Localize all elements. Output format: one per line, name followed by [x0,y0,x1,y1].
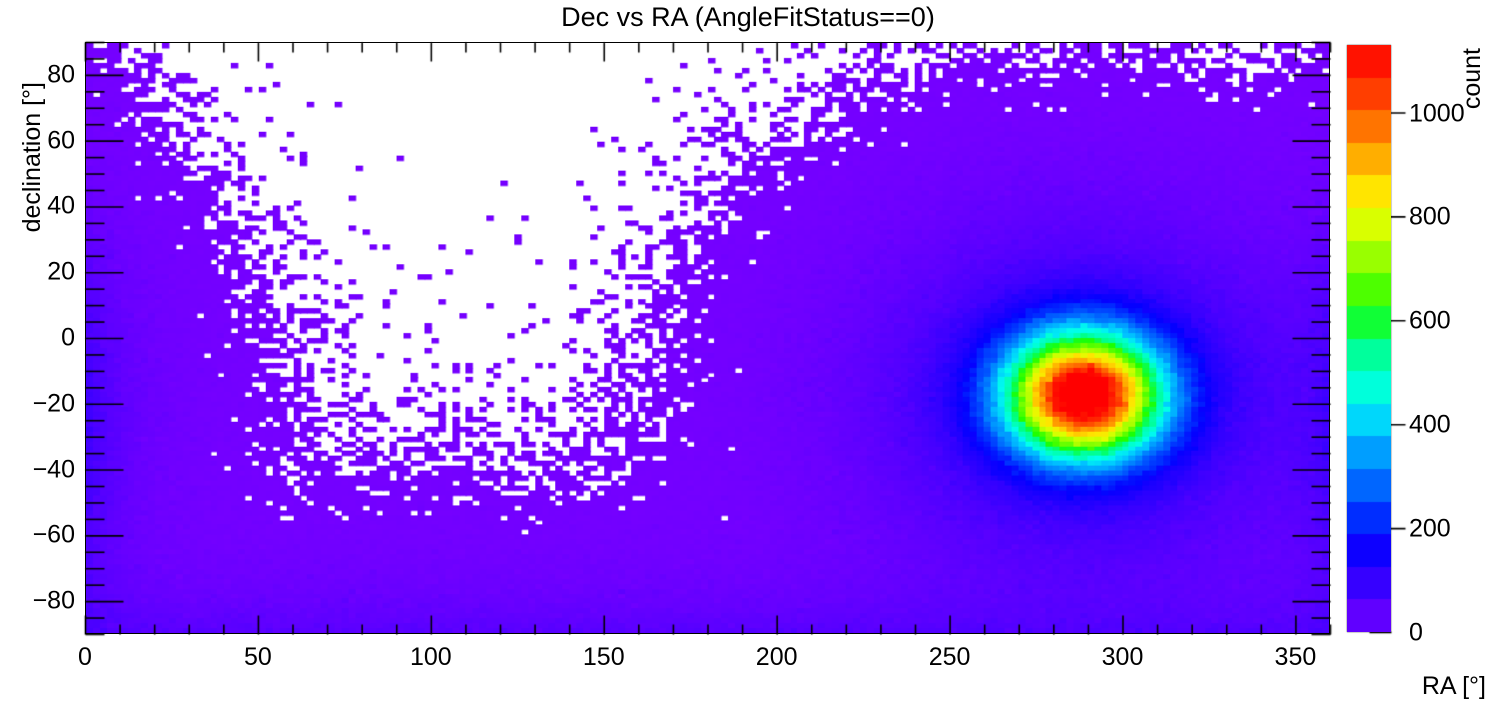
x-tick-label: 250 [929,643,971,672]
z-tick-label: 1000 [1409,99,1465,128]
x-axis-title: RA [°] [1422,672,1486,701]
y-tick-label: −20 [20,389,75,418]
x-tick-label: 200 [756,643,798,672]
x-tick-label: 300 [1102,643,1144,672]
z-axis-title-wrap: count [1458,48,1496,77]
y-tick-label: 60 [20,126,75,155]
x-tick-label: 0 [78,643,92,672]
y-tick-label: −60 [20,521,75,550]
x-tick-label: 350 [1275,643,1317,672]
root-canvas: Dec vs RA (AngleFitStatus==0) declinatio… [0,0,1496,722]
x-tick-label: 100 [410,643,452,672]
y-tick-label: −40 [20,455,75,484]
y-tick-label: 80 [20,60,75,89]
z-tick-label: 200 [1409,515,1451,544]
x-tick-label: 150 [583,643,625,672]
color-scale-bar [1347,45,1391,632]
color-scale-gradient [1347,45,1391,632]
plot-frame [85,42,1330,634]
z-tick-label: 800 [1409,203,1451,232]
page-title: Dec vs RA (AngleFitStatus==0) [0,2,1496,33]
histogram-canvas [86,43,1329,633]
z-tick-label: 400 [1409,411,1451,440]
z-tick-label: 0 [1409,619,1423,648]
y-tick-label: 40 [20,192,75,221]
z-tick-label: 600 [1409,307,1451,336]
y-tick-label: −80 [20,587,75,616]
y-tick-label: 20 [20,258,75,287]
y-tick-label: 0 [20,324,75,353]
x-tick-label: 50 [244,643,272,672]
